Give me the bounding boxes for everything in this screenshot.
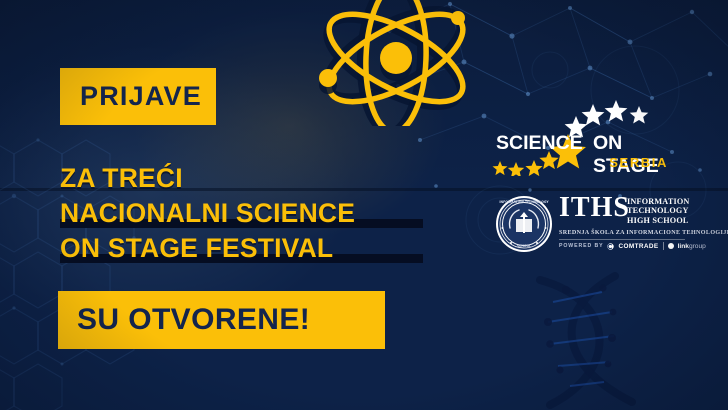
linkgroup-light: group	[689, 243, 706, 250]
linkgroup-mark-icon	[668, 243, 674, 249]
comtrade-mark-icon	[607, 243, 614, 250]
science-on-stage-word-science: SCIENCE	[496, 132, 583, 155]
svg-text:INFORMATION TECHNOLOGY: INFORMATION TECHNOLOGY	[499, 200, 549, 204]
iths-fullname: INFORMATION TECHNOLOGY HIGH SCHOOL	[627, 197, 690, 225]
badge-su-otvorene-label: SU OTVORENE!	[77, 303, 310, 337]
partner-divider	[663, 242, 664, 250]
svg-text:SCHOOL: SCHOOL	[517, 244, 531, 248]
atom-icon	[296, 0, 496, 126]
partner-linkgroup-label: linkgroup	[678, 243, 706, 250]
partner-comtrade-label: COMTRADE	[618, 243, 658, 250]
headline-line-1: ZA TREĆI	[60, 163, 480, 194]
iths-powered-by: POWERED BY COMTRADE linkgroup	[559, 242, 706, 250]
iths-acronym: ITHS	[559, 193, 630, 223]
iths-logo: INFORMATION TECHNOLOGY SCHOOL ITHS INFOR…	[495, 195, 690, 257]
badge-su-otvorene: SU OTVORENE!	[58, 291, 385, 349]
powered-by-label: POWERED BY	[559, 243, 603, 249]
headline-line-2: NACIONALNI SCIENCE	[60, 198, 480, 229]
iths-fullname-line-3: HIGH SCHOOL	[627, 216, 690, 225]
headline-line-3: ON STAGE FESTIVAL	[60, 233, 480, 264]
iths-seal-icon: INFORMATION TECHNOLOGY SCHOOL	[495, 195, 553, 253]
headline-middle: ZA TREĆI NACIONALNI SCIENCE ON STAGE FES…	[60, 163, 480, 264]
dna-helix-pattern-icon	[520, 270, 728, 410]
iths-fullname-line-1: INFORMATION	[627, 197, 690, 206]
linkgroup-bold: link	[678, 243, 689, 250]
badge-prijave: PRIJAVE	[60, 68, 216, 125]
promo-banner: PRIJAVE ZA TREĆI NACIONALNI SCIENCE ON S…	[0, 0, 728, 410]
iths-divider	[559, 239, 685, 240]
science-on-stage-country: SERBIA	[609, 155, 668, 170]
badge-prijave-label: PRIJAVE	[80, 81, 202, 112]
iths-fullname-line-2: TECHNOLOGY	[627, 206, 690, 215]
iths-serbian-name: SREDNJA ŠKOLA ZA INFORMACIONE TEHNOLOGIJ…	[559, 230, 728, 236]
science-on-stage-logo: SCIENCE ON STAGE SERBIA	[492, 96, 672, 176]
